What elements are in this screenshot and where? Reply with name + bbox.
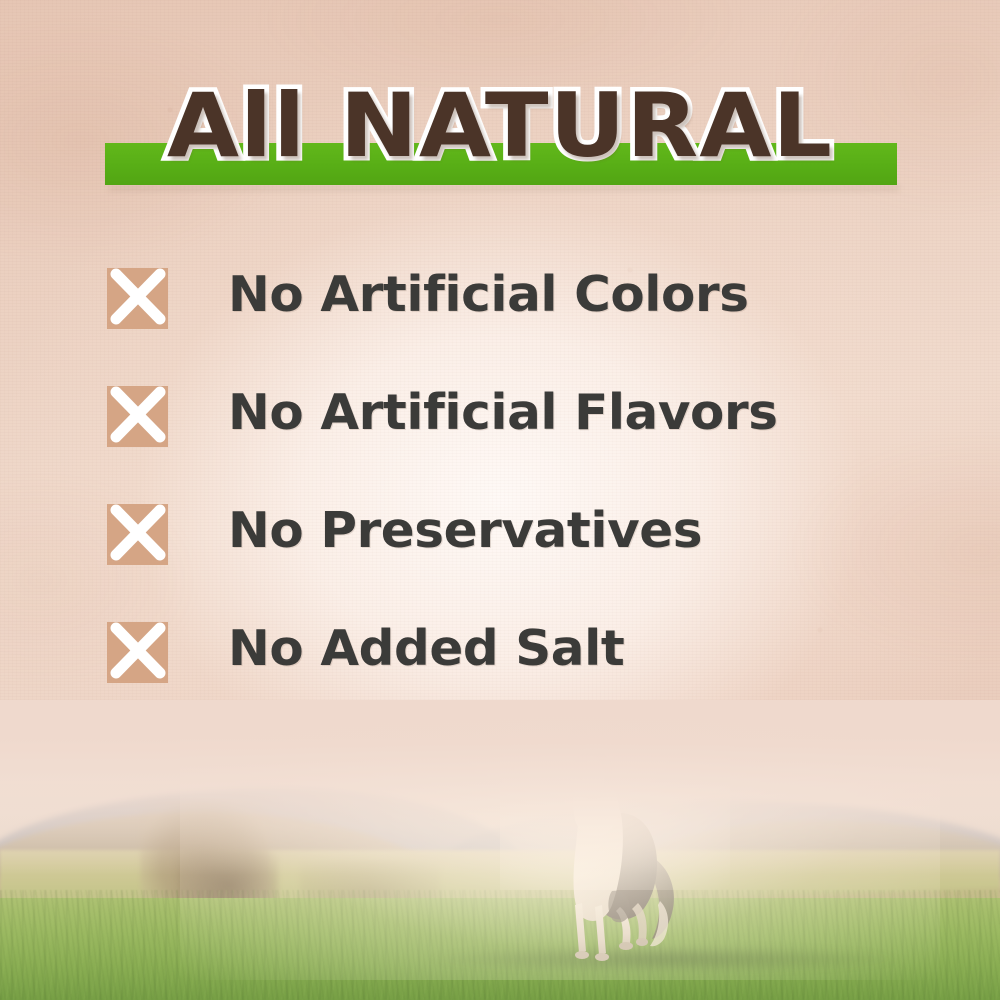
green-banner-shadow xyxy=(109,186,899,191)
feature-label: No Preservatives xyxy=(228,500,702,561)
x-mark-icon xyxy=(107,386,168,447)
list-item: No Added Salt xyxy=(0,604,1000,722)
list-item: No Artificial Colors xyxy=(0,250,1000,368)
feature-label: No Artificial Flavors xyxy=(228,382,778,443)
x-mark-icon xyxy=(107,268,168,329)
x-mark-icon xyxy=(107,504,168,565)
headline-banner: All NATURAL xyxy=(0,0,1000,210)
dog-figure xyxy=(520,705,700,975)
page-title: All NATURAL xyxy=(0,78,1000,174)
feature-list: No Artificial Colors No Artificial Flavo… xyxy=(0,250,1000,722)
feature-label: No Added Salt xyxy=(228,618,624,679)
list-item: No Preservatives xyxy=(0,486,1000,604)
product-feature-card: All NATURAL No Artificial Colors No Arti… xyxy=(0,0,1000,1000)
x-mark-icon xyxy=(107,622,168,683)
feature-label: No Artificial Colors xyxy=(228,264,749,325)
list-item: No Artificial Flavors xyxy=(0,368,1000,486)
photo-grass-texture xyxy=(0,890,1000,1000)
hero-photograph xyxy=(0,700,1000,1000)
